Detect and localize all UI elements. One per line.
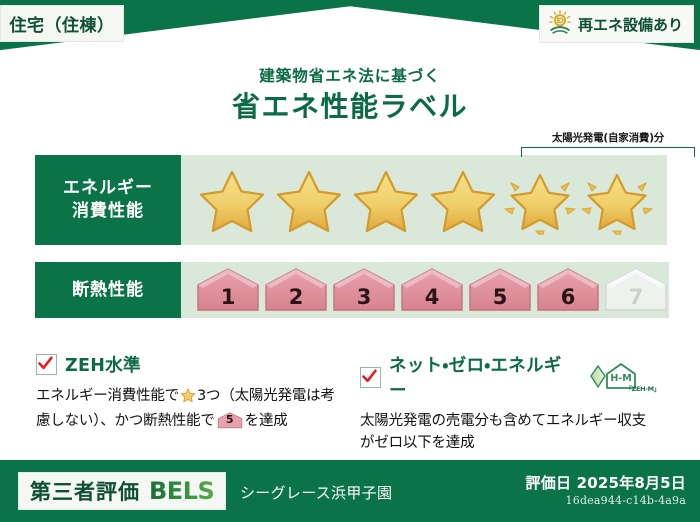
insulation-grades-area: 1 2 3 (181, 262, 669, 318)
insulation-performance-label: 断熱性能 (35, 262, 181, 318)
bels-logo-text: BELS (149, 477, 214, 505)
renewable-badge-label: 再エネ設備あり (578, 14, 683, 35)
building-type-tag: 住宅（住棟） (0, 5, 124, 42)
claim-body: 太陽光発電の売電分も含めてエネルギー収支がゼロ以下を達成 (360, 410, 660, 454)
footer-bar: 第三者評価 BELS シーグレース浜甲子園 評価日 2025年8月5日 16de… (0, 460, 700, 522)
grade-house-4: 4 (399, 267, 465, 313)
insulation-performance-row: 断熱性能 1 2 (35, 262, 667, 318)
label-canvas: 住宅（住棟） 再エネ設備あり 建築物省エネ法に基づ (0, 0, 700, 522)
zeh-m-logo-label: 「ZEH-M」 (625, 383, 660, 393)
claim-title: ZEH水準 (65, 352, 141, 377)
grade-house-3: 3 (331, 267, 397, 313)
star-filled (349, 165, 423, 235)
claim-zeh-standard: ZEH水準 エネルギー消費性能で3つ（太陽光発電は考慮しない）、かつ断熱性能で5… (36, 352, 336, 432)
check-icon (36, 354, 57, 375)
solar-self-consumption-note: 太陽光発電(自家消費)分 (513, 130, 700, 145)
star-filled (426, 165, 500, 235)
grade-house-6: 6 (535, 267, 601, 313)
star-filled (195, 165, 269, 235)
grade-house-2: 2 (263, 267, 329, 313)
energy-performance-label: エネルギー 消費性能 (35, 155, 181, 245)
solar-bracket (521, 147, 695, 157)
star-filled-solar (503, 165, 577, 235)
claim-title: ネット・ゼロ・エネルギー (389, 352, 577, 402)
grade-house-7: 7 (603, 267, 669, 313)
page-title: 省エネ性能ラベル (0, 85, 700, 125)
insulation-grade-scale: 1 2 3 (181, 267, 669, 313)
check-icon (360, 367, 381, 388)
claim-body: エネルギー消費性能で3つ（太陽光発電は考慮しない）、かつ断熱性能で5を達成 (36, 385, 336, 432)
evaluation-date: 評価日 2025年8月5日 (526, 472, 686, 493)
claim-text-part3: を達成 (245, 413, 288, 429)
building-name: シーグレース浜甲子園 (240, 482, 392, 503)
energy-stars-area: 太陽光発電(自家消費)分 (181, 155, 667, 245)
solar-sun-icon (547, 9, 573, 39)
grade-house-1: 1 (195, 267, 261, 313)
bels-certification-badge: 第三者評価 BELS (18, 472, 226, 510)
bels-ja-label: 第三者評価 (30, 476, 140, 506)
label-subtitle: 建築物省エネ法に基づく (0, 64, 700, 86)
energy-performance-row: エネルギー 消費性能 太陽光発電(自家消費)分 (35, 155, 667, 245)
claim-net-zero-energy: ネット・ゼロ・エネルギー H-M 「ZEH-M」 太陽光発電の売電分も含めてエネ… (360, 352, 660, 454)
grade-house-5: 5 (467, 267, 533, 313)
claim-text-part1: エネルギー消費性能で (36, 388, 179, 404)
star-rating (181, 165, 654, 235)
star-filled-solar (580, 165, 654, 235)
star-icon (180, 387, 196, 410)
grade-badge-5: 5 (217, 412, 243, 429)
renewable-equipment-badge: 再エネ設備あり (539, 5, 694, 43)
claim-header: ZEH水準 (36, 352, 336, 377)
claim-header: ネット・ゼロ・エネルギー H-M 「ZEH-M」 (360, 352, 660, 402)
evaluation-id: 16dea944-c14b-4a9a (566, 494, 686, 507)
zeh-m-logo: H-M 「ZEH-M」 (587, 362, 660, 392)
star-filled (272, 165, 346, 235)
